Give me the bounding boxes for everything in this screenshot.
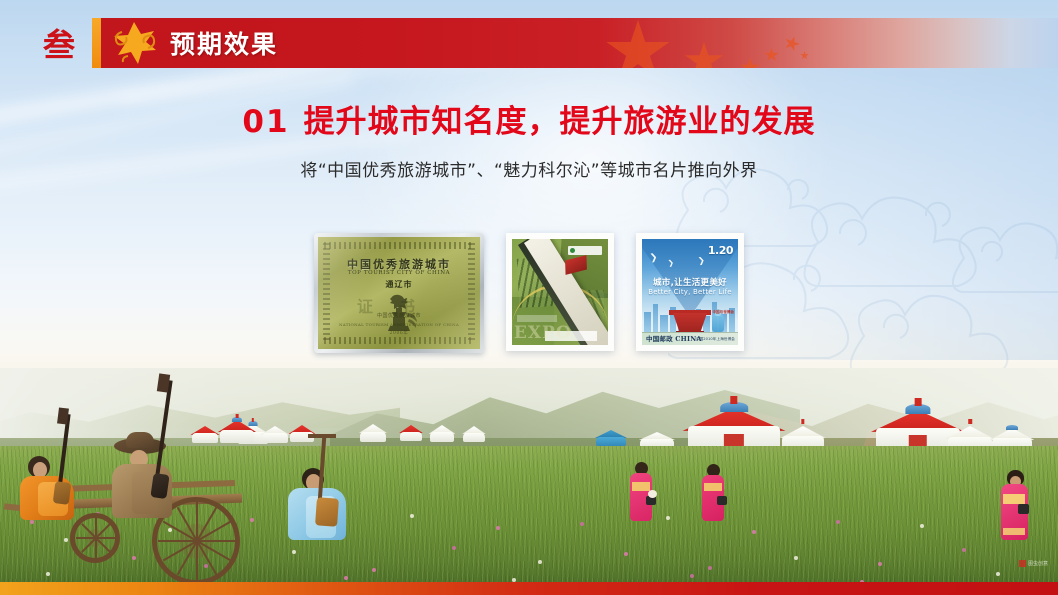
star-icon [684,42,724,68]
photo-watermark: 图虫创意 [1019,560,1048,567]
musician-brown-deel [108,438,188,516]
plaque-year: 2006年 [318,330,480,336]
plaque-border [324,242,474,249]
stamp-denomination: 1.20 [708,244,733,257]
yurt [360,424,386,442]
post-authority-label: 中国邮政 CHINA [646,333,702,343]
watermark-mark-icon [1019,560,1026,567]
plaque-issuer-line: 中国优秀旅游城市 [318,312,480,319]
cart-wheel [70,513,120,563]
green-leaf-logo-icon [568,246,602,255]
page-subtitle: 将“中国优秀旅游城市”、“魅力科尔沁”等城市名片推向外界 [0,156,1058,181]
star-icon [782,34,802,54]
woman-pink-robe [1000,470,1030,542]
yurt [220,420,254,443]
star-icon [605,20,671,68]
star-icon [740,58,760,68]
tourist-city-certificate-plaque[interactable]: 证书 中国优秀旅游城市 TOP TOURIST CITY OF CHINA 通辽… [314,233,484,353]
bird-icon: ❯ [697,255,705,265]
bird-icon: ❯ [667,259,674,268]
shanghai-expo-stamp[interactable]: 1.20 ❯ ❯ ❯ 城市,让生活更美好 Better City, Better… [636,233,744,351]
section-banner: 预期效果 [100,18,1058,68]
grassland-culture-photo: 图虫创意 [0,368,1058,583]
section-number: 叁 [28,18,90,68]
page-title: 01提升城市知名度，提升旅游业的发展 [0,96,1058,141]
mongolian-cloud-ornament-icon [108,20,160,66]
expo-slogan-cn: 城市,让生活更美好 [642,276,738,288]
watermark-text: 图虫创意 [1028,560,1048,567]
stamp-caption-block [517,315,557,322]
banner-accent-bar [92,18,101,68]
expo-event-label: 中国2010年上海世博会 [696,337,735,342]
star-icon [800,51,809,60]
title-text: 提升城市知名度，提升旅游业的发展 [304,104,816,140]
yurt [192,426,218,443]
yurt [463,426,485,442]
stamp-footer-band: 中国邮政 CHINA 中国2010年上海世博会 [642,332,738,345]
woman-pink-robe [628,462,654,524]
yurt-blue [596,430,626,446]
gallery-row: 证书 中国优秀旅游城市 TOP TOURIST CITY OF CHINA 通辽… [0,233,1058,353]
title-number: 01 [242,104,289,140]
star-icon [764,48,779,62]
bottom-accent-bar [0,582,1058,595]
stamp-artwork: EXPO [512,239,608,345]
stamp-ghost-text: EXPO [514,323,572,343]
expo-mark-text: 中国与世博会 [712,310,734,315]
slide: 预期效果 叁 01提升城市知名度，提升旅游业的发展 将“中国优秀旅游城市”、“魅… [0,0,1058,595]
haibao-mascot-icon [712,313,724,332]
plaque-border [324,337,474,344]
bird-icon: ❯ [649,252,658,263]
yurt [400,425,422,441]
musician-orange-robe [18,456,88,516]
yurt [262,426,288,443]
aerial-park-stamp[interactable]: EXPO [506,233,614,351]
musician-blue-robe [286,468,354,540]
banner-title: 预期效果 [170,18,278,68]
stamp-artwork: 1.20 ❯ ❯ ❯ 城市,让生活更美好 Better City, Better… [642,239,738,345]
plaque-en-title: TOP TOURIST CITY OF CHINA [318,270,480,276]
yurt [430,425,454,442]
plaque-face: 证书 中国优秀旅游城市 TOP TOURIST CITY OF CHINA 通辽… [318,237,480,349]
title-block: 01提升城市知名度，提升旅游业的发展 将“中国优秀旅游城市”、“魅力科尔沁”等城… [0,96,1058,181]
slide-header: 预期效果 叁 [0,18,1058,68]
woman-pink-robe [700,464,726,524]
plaque-issuer-sub: NATIONAL TOURISM ADMINISTRATION OF CHINA [318,322,480,327]
